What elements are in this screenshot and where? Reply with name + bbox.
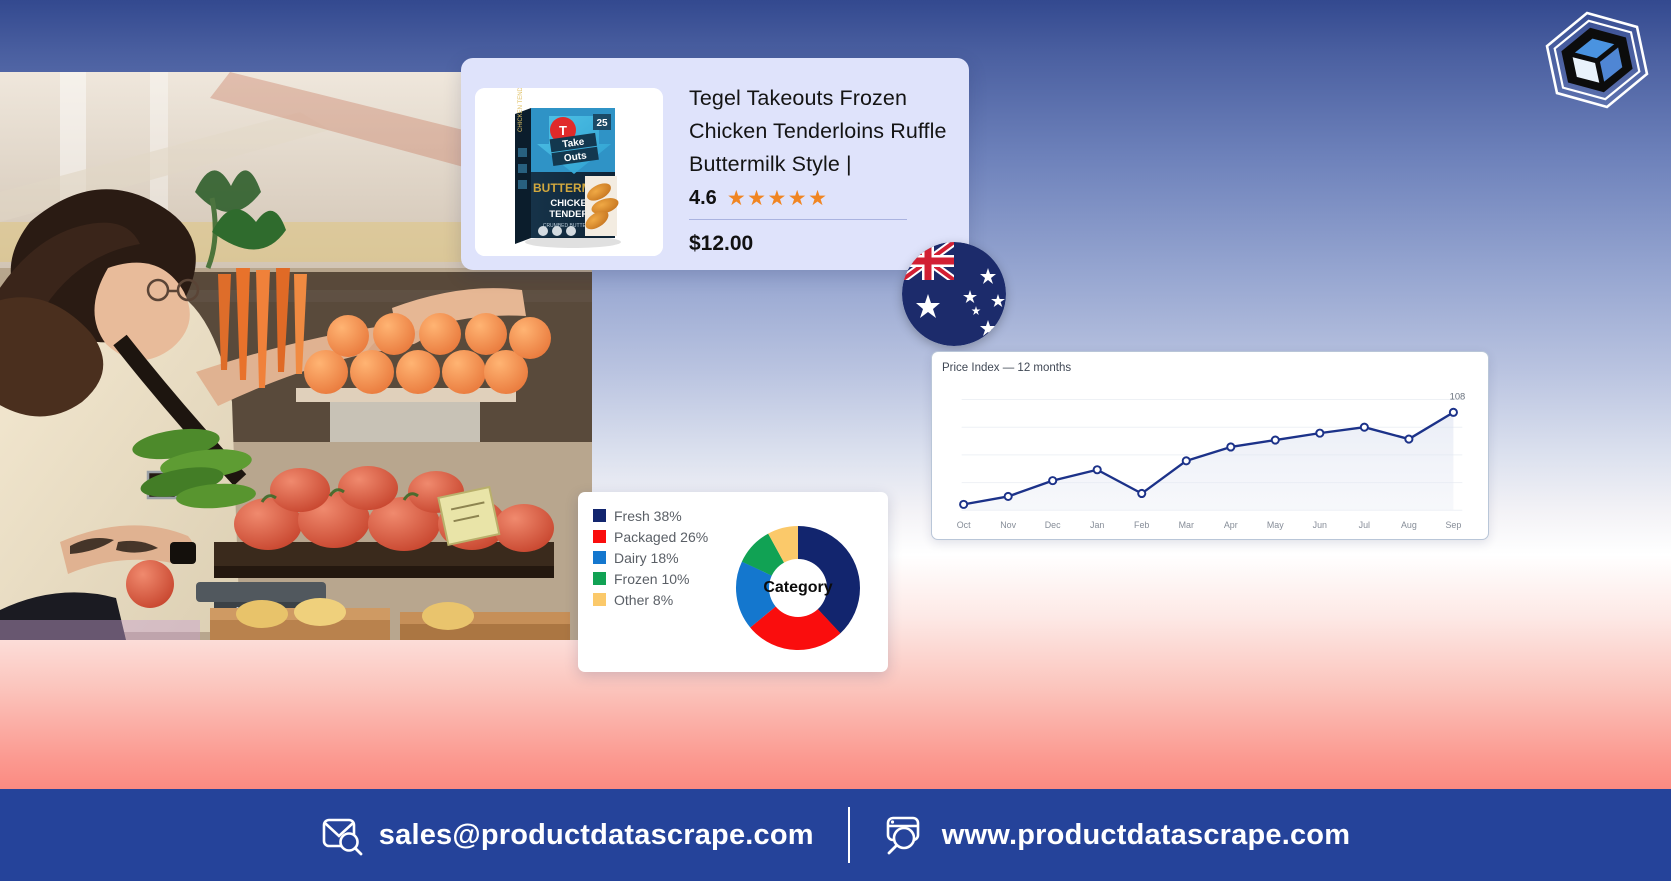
svg-text:Dec: Dec — [1045, 520, 1061, 530]
mail-search-icon — [321, 814, 363, 856]
donut-legend: Fresh 38% Packaged 26% Dairy 18% Frozen … — [593, 505, 708, 610]
svg-text:Jun: Jun — [1313, 520, 1327, 530]
category-donut-chart: Category — [718, 508, 878, 668]
contact-footer: sales@productdatascrape.com www.productd… — [0, 789, 1671, 881]
product-card[interactable]: T 25 Take Outs BUTTERMILK CHICKEN TENDER… — [461, 58, 969, 270]
legend-label: Other 8% — [614, 592, 673, 608]
svg-text:Feb: Feb — [1134, 520, 1149, 530]
legend-swatch-dairy — [593, 551, 606, 564]
legend-swatch-fresh — [593, 509, 606, 522]
svg-text:Jan: Jan — [1090, 520, 1104, 530]
legend-label: Fresh 38% — [614, 508, 682, 524]
svg-text:Sep: Sep — [1445, 520, 1461, 530]
product-info: Tegel Takeouts Frozen Chicken Tenderloin… — [675, 58, 969, 256]
product-rating: 4.6 ★★★★★ — [689, 187, 907, 220]
product-box-image: T 25 Take Outs BUTTERMILK CHICKEN TENDER… — [475, 88, 663, 256]
line-chart-end-label: 108 — [1450, 390, 1466, 401]
price-index-line-chart: Oct Nov Dec Jan Feb Mar Apr May Jun Jul … — [932, 352, 1488, 539]
svg-text:CHICKEN TENDERS: CHICKEN TENDERS — [518, 88, 524, 132]
legend-swatch-packaged — [593, 530, 606, 543]
footer-divider — [848, 807, 850, 863]
svg-text:Mar: Mar — [1179, 520, 1194, 530]
price-index-chart-card[interactable]: Price Index — 12 months — [931, 351, 1489, 540]
poster-canvas: 1.24kg — [0, 0, 1671, 881]
svg-text:25: 25 — [596, 118, 608, 129]
australia-flag-badge-icon — [902, 242, 1006, 346]
svg-text:May: May — [1267, 520, 1284, 530]
footer-email[interactable]: sales@productdatascrape.com — [321, 814, 814, 856]
product-price: $12.00 — [689, 232, 955, 256]
legend-item: Packaged 26% — [593, 526, 708, 547]
legend-item: Fresh 38% — [593, 505, 708, 526]
svg-text:Aug: Aug — [1401, 520, 1417, 530]
legend-item: Other 8% — [593, 589, 708, 610]
legend-item: Dairy 18% — [593, 547, 708, 568]
legend-label: Packaged 26% — [614, 529, 708, 545]
legend-swatch-other — [593, 593, 606, 606]
svg-text:Apr: Apr — [1224, 520, 1238, 530]
legend-label: Dairy 18% — [614, 550, 679, 566]
product-title: Tegel Takeouts Frozen Chicken Tenderloin… — [689, 82, 955, 181]
footer-website[interactable]: www.productdatascrape.com — [884, 814, 1350, 856]
rating-value: 4.6 — [689, 187, 717, 210]
category-donut-card[interactable]: Fresh 38% Packaged 26% Dairy 18% Frozen … — [578, 492, 888, 672]
footer-email-text: sales@productdatascrape.com — [379, 819, 814, 852]
svg-text:T: T — [559, 123, 567, 138]
footer-website-text: www.productdatascrape.com — [942, 819, 1350, 852]
svg-text:Jul: Jul — [1359, 520, 1370, 530]
legend-swatch-frozen — [593, 572, 606, 585]
star-rating-icon: ★★★★★ — [727, 188, 829, 209]
hexagon-cube-logo-icon — [1539, 8, 1655, 112]
legend-item: Frozen 10% — [593, 568, 708, 589]
svg-text:Oct: Oct — [957, 520, 971, 530]
svg-text:Nov: Nov — [1000, 520, 1016, 530]
legend-label: Frozen 10% — [614, 571, 689, 587]
web-search-icon — [884, 814, 926, 856]
